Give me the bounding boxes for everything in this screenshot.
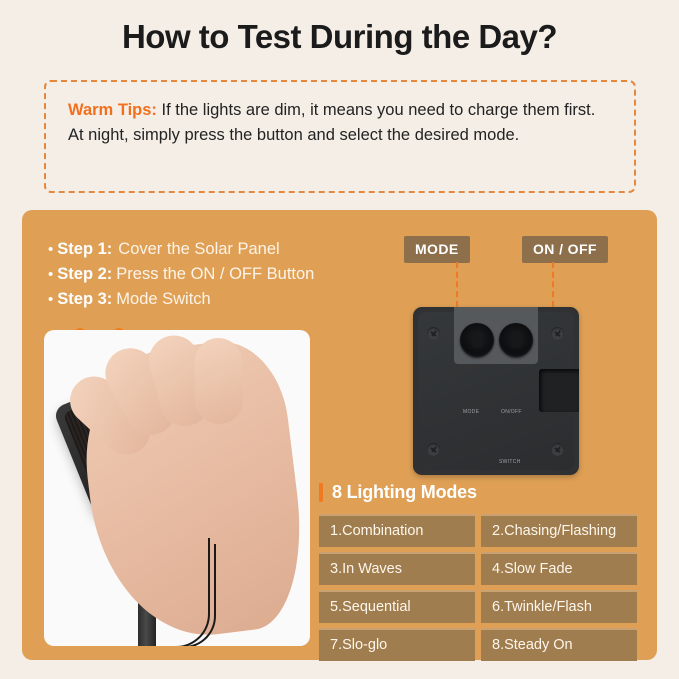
lighting-modes-header: 8 Lighting Modes — [319, 482, 637, 503]
callout-mode-label: MODE — [404, 236, 470, 263]
lighting-modes-grid: 1.Combination 2.Chasing/Flashing 3.In Wa… — [319, 514, 637, 661]
mode-item: 8.Steady On — [481, 628, 637, 661]
mode-item: 6.Twinkle/Flash — [481, 590, 637, 623]
screw-icon — [427, 443, 440, 456]
warm-tips-text: Warm Tips: If the lights are dim, it mea… — [68, 98, 614, 148]
screw-icon — [551, 443, 564, 456]
instruction-card: • Step 1: Cover the Solar Panel • Step 2… — [22, 210, 657, 660]
step-item: • Step 2: Press the ON / OFF Button — [48, 262, 314, 287]
device-recess — [539, 369, 579, 412]
mode-button[interactable] — [460, 323, 494, 357]
warm-tips-box: Warm Tips: If the lights are dim, it mea… — [44, 80, 636, 193]
wire-shape — [184, 544, 216, 646]
lighting-modes-title: 8 Lighting Modes — [332, 482, 477, 503]
page-title: How to Test During the Day? — [0, 18, 679, 56]
callout-onoff-label: ON / OFF — [522, 236, 608, 263]
onoff-button[interactable] — [499, 323, 533, 357]
step-item: • Step 1: Cover the Solar Panel — [48, 237, 314, 262]
step-label: Step 2: — [57, 262, 112, 287]
button-stem — [511, 331, 522, 348]
product-photo — [44, 330, 310, 646]
mode-item: 2.Chasing/Flashing — [481, 514, 637, 547]
screw-icon — [427, 327, 440, 340]
device-panel-illustration: MODE ON/OFF SWITCH — [413, 307, 579, 475]
step-item: • Step 3: Mode Switch — [48, 287, 314, 312]
bullet-icon: • — [48, 262, 53, 287]
mode-item: 3.In Waves — [319, 552, 475, 585]
step-label: Step 3: — [57, 287, 112, 312]
step-label: Step 1: — [57, 237, 112, 262]
finger-shape — [194, 338, 243, 425]
mode-item: 1.Combination — [319, 514, 475, 547]
lighting-modes-section: 8 Lighting Modes 1.Combination 2.Chasing… — [319, 482, 637, 661]
step-value: Cover the Solar Panel — [118, 237, 279, 262]
mode-item: 5.Sequential — [319, 590, 475, 623]
screw-icon — [551, 327, 564, 340]
step-value: Press the ON / OFF Button — [116, 262, 314, 287]
steps-list: • Step 1: Cover the Solar Panel • Step 2… — [48, 237, 314, 312]
mode-item: 7.Slo-glo — [319, 628, 475, 661]
warm-tips-label: Warm Tips: — [68, 101, 157, 119]
device-mode-micro-label: MODE — [463, 409, 479, 415]
device-onoff-micro-label: ON/OFF — [501, 409, 522, 415]
accent-bar-icon — [319, 483, 323, 502]
device-switch-micro-label: SWITCH — [499, 459, 521, 465]
mode-item: 4.Slow Fade — [481, 552, 637, 585]
button-plate — [454, 307, 538, 364]
bullet-icon: • — [48, 287, 53, 312]
bullet-icon: • — [48, 237, 53, 262]
step-value: Mode Switch — [116, 287, 210, 312]
button-stem — [472, 331, 483, 348]
